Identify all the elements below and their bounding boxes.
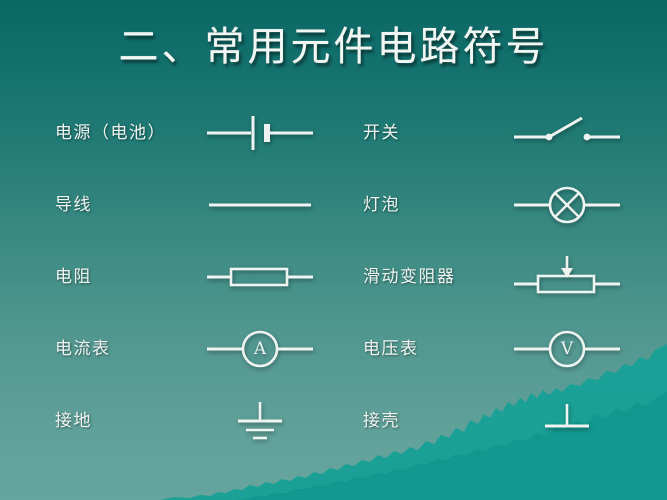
symbol-row-wire: 导线: [55, 174, 330, 236]
symbol-label-battery: 电源（电池）: [55, 122, 184, 144]
symbol-table: 电源（电池） 导线 电阻: [0, 98, 667, 458]
symbol-label-voltmeter: 电压表: [363, 338, 495, 360]
symbol-row-voltmeter: 电压表 V: [363, 318, 643, 380]
symbol-label-wire: 导线: [55, 194, 184, 216]
symbol-label-lamp: 灯泡: [363, 194, 495, 216]
symbol-row-battery: 电源（电池）: [55, 102, 330, 164]
chassis-ground-symbol: [497, 393, 637, 449]
switch-symbol: [497, 105, 637, 161]
symbol-row-rheostat: 滑动变阻器: [363, 246, 643, 308]
battery-symbol: [190, 105, 330, 161]
slide-canvas: 二、常用元件电路符号 电源（电池） 导线: [0, 0, 667, 500]
resistor-symbol: [190, 249, 330, 305]
symbol-label-ammeter: 电流表: [55, 338, 184, 360]
rheostat-symbol: [497, 249, 637, 305]
ammeter-letter: A: [253, 339, 267, 359]
voltmeter-letter: V: [560, 339, 574, 359]
ammeter-symbol: A: [190, 321, 330, 377]
symbol-label-switch: 开关: [363, 122, 495, 144]
symbol-row-switch: 开关: [363, 102, 643, 164]
lamp-symbol: [497, 177, 637, 233]
symbol-label-earth-ground: 接地: [55, 410, 184, 432]
voltmeter-symbol: V: [497, 321, 637, 377]
symbol-row-resistor: 电阻: [55, 246, 330, 308]
symbol-label-resistor: 电阻: [55, 266, 184, 288]
earth-ground-symbol: [190, 393, 330, 449]
symbol-row-chassis-ground: 接壳: [363, 390, 643, 452]
wire-symbol: [190, 177, 330, 233]
symbol-row-ammeter: 电流表 A: [55, 318, 330, 380]
slide-title: 二、常用元件电路符号: [0, 22, 667, 72]
symbol-label-rheostat: 滑动变阻器: [363, 266, 495, 288]
symbol-row-lamp: 灯泡: [363, 174, 643, 236]
symbol-row-earth-ground: 接地: [55, 390, 330, 452]
symbol-label-chassis-ground: 接壳: [363, 410, 495, 432]
